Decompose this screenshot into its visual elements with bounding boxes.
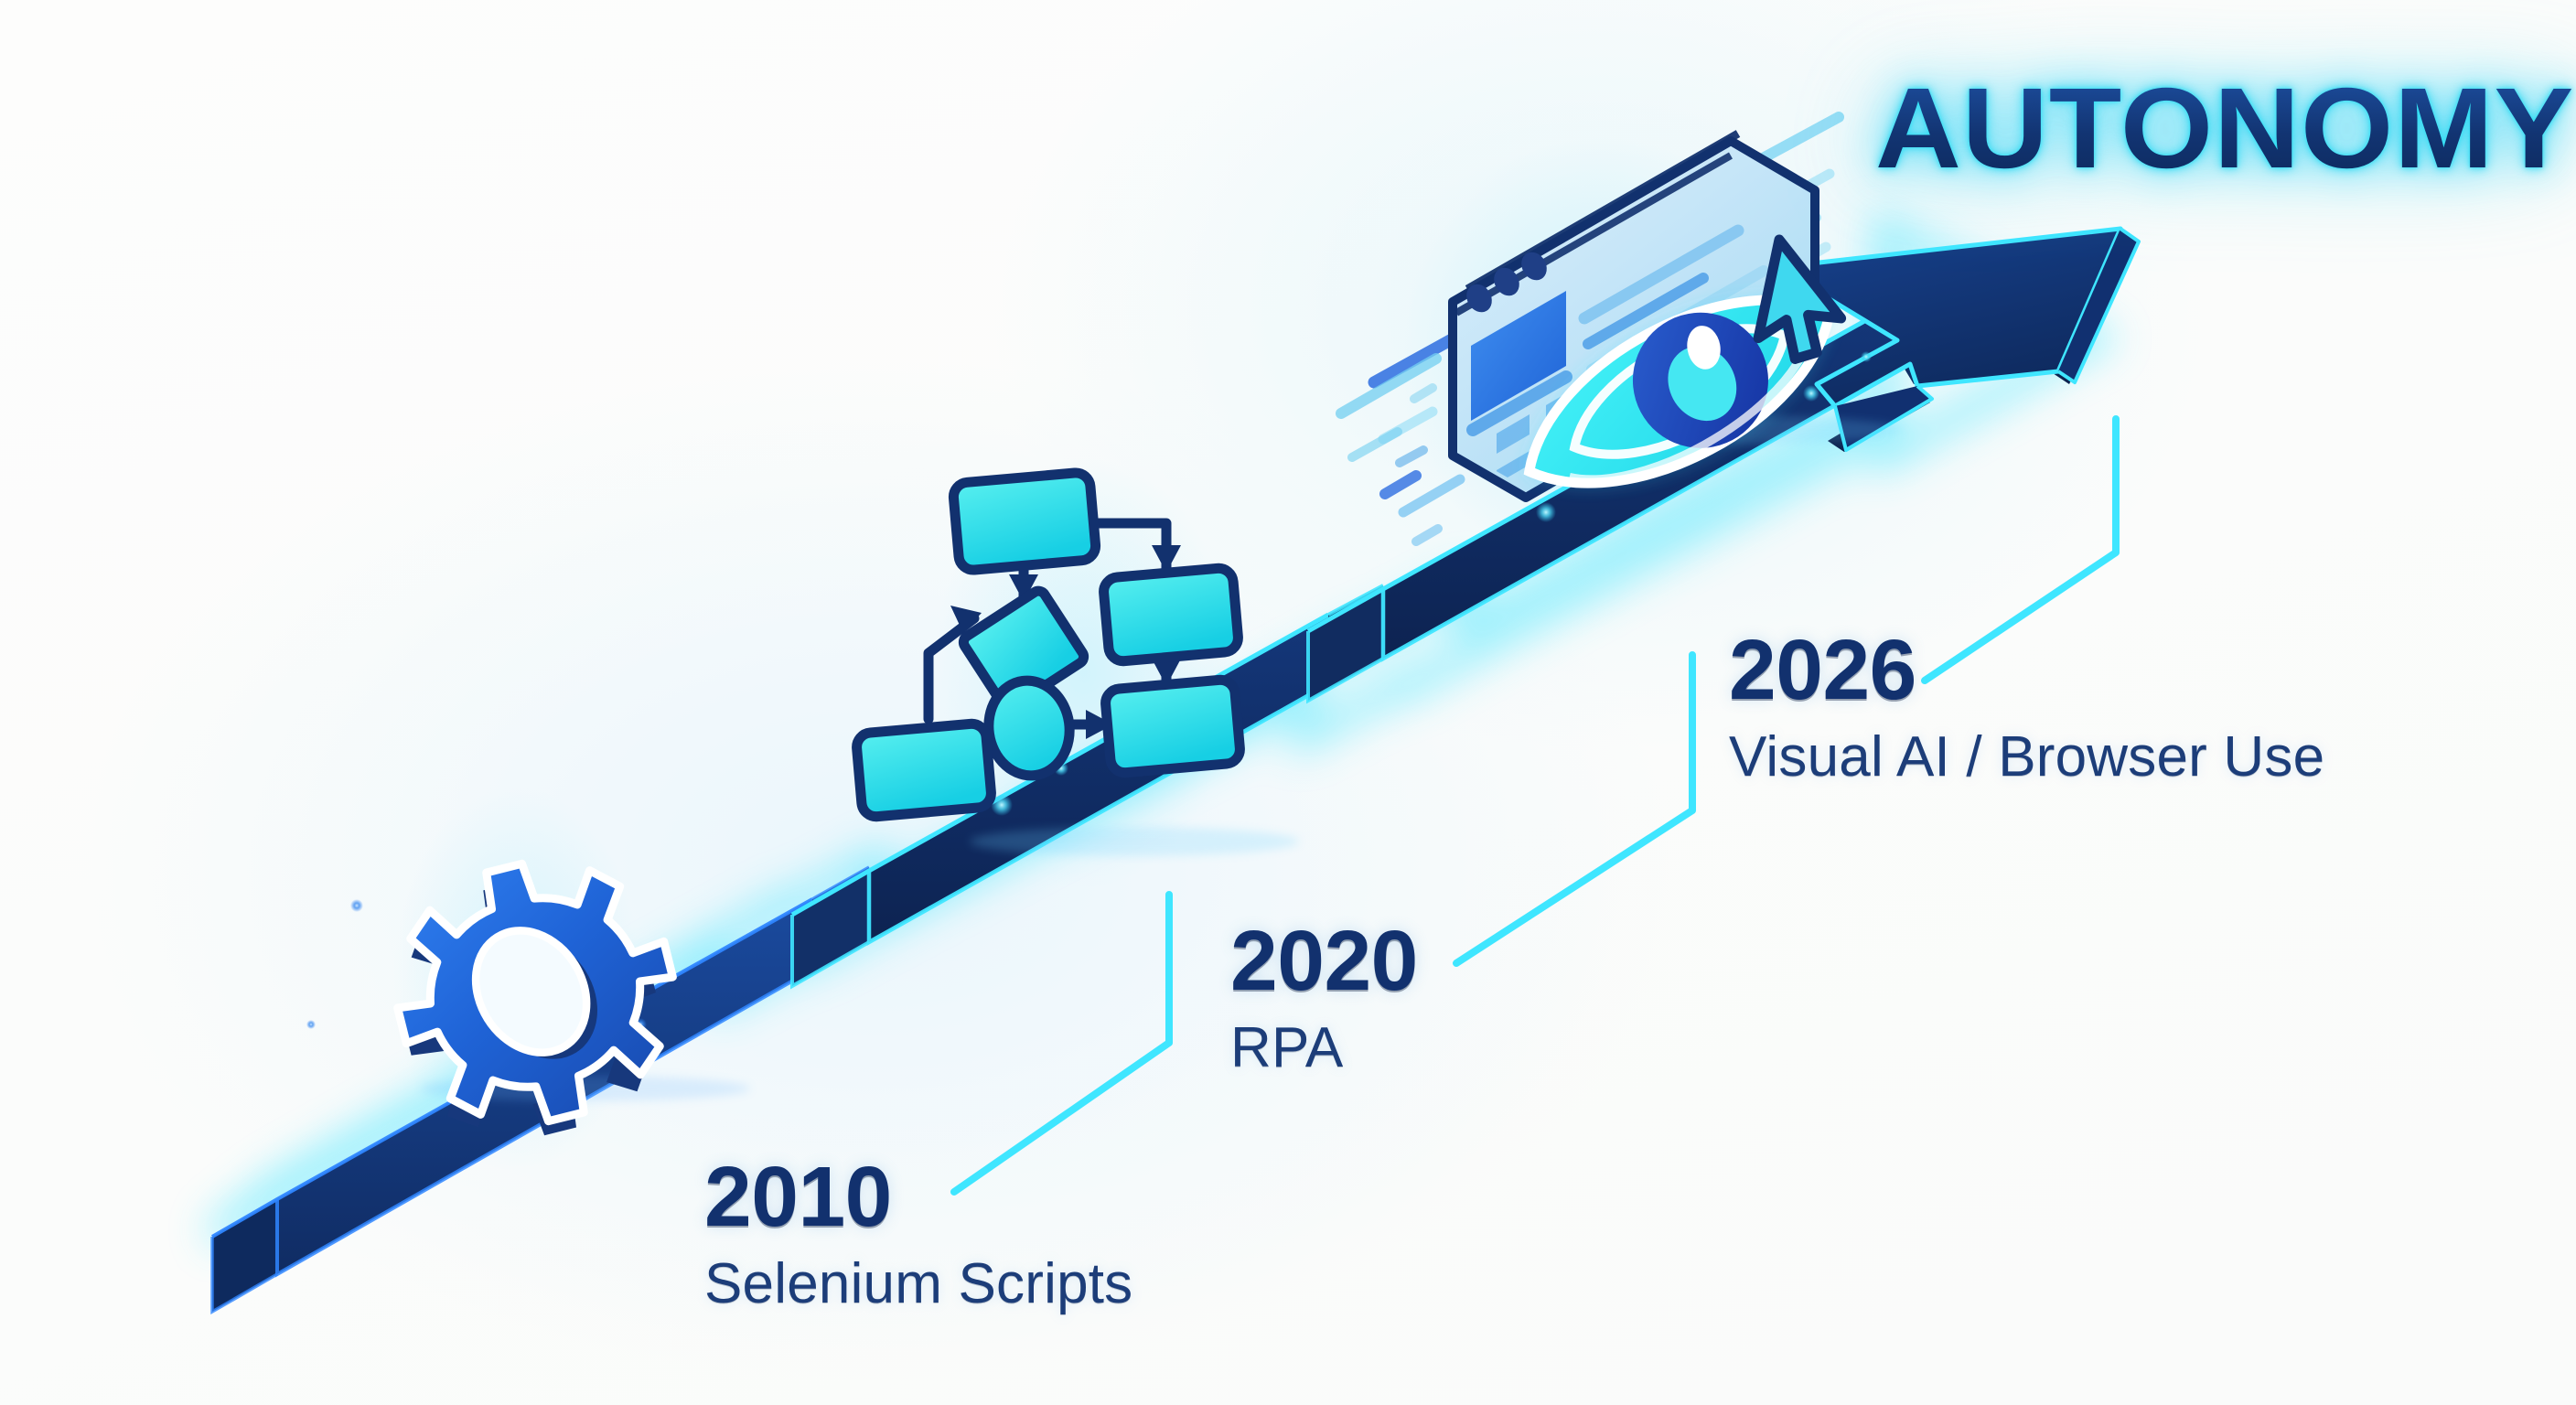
milestone-caption: Selenium Scripts bbox=[704, 1254, 1132, 1314]
flowchart-node-3 bbox=[1104, 679, 1240, 774]
flowchart-node-1 bbox=[952, 472, 1097, 572]
leader-line-2010 bbox=[954, 895, 1169, 1192]
flowchart-node-4 bbox=[855, 723, 992, 818]
leader-line-2020 bbox=[1456, 655, 1692, 963]
milestone-2020: 2020 RPA bbox=[1230, 918, 1418, 1078]
milestone-year: 2020 bbox=[1230, 918, 1418, 1003]
milestone-2026: 2026 Visual AI / Browser Use bbox=[1729, 627, 2324, 787]
page-title: AUTONOMY bbox=[1875, 71, 2574, 186]
milestone-caption: Visual AI / Browser Use bbox=[1729, 727, 2324, 787]
milestone-year: 2026 bbox=[1729, 627, 2324, 713]
milestone-year: 2010 bbox=[704, 1154, 1132, 1239]
flowchart-node-2 bbox=[1102, 567, 1239, 662]
milestone-caption: RPA bbox=[1230, 1018, 1418, 1078]
milestone-2010: 2010 Selenium Scripts bbox=[704, 1154, 1132, 1314]
infographic-canvas: AUTONOMY 2010 Selenium Scripts 2020 RPA … bbox=[0, 0, 2576, 1405]
